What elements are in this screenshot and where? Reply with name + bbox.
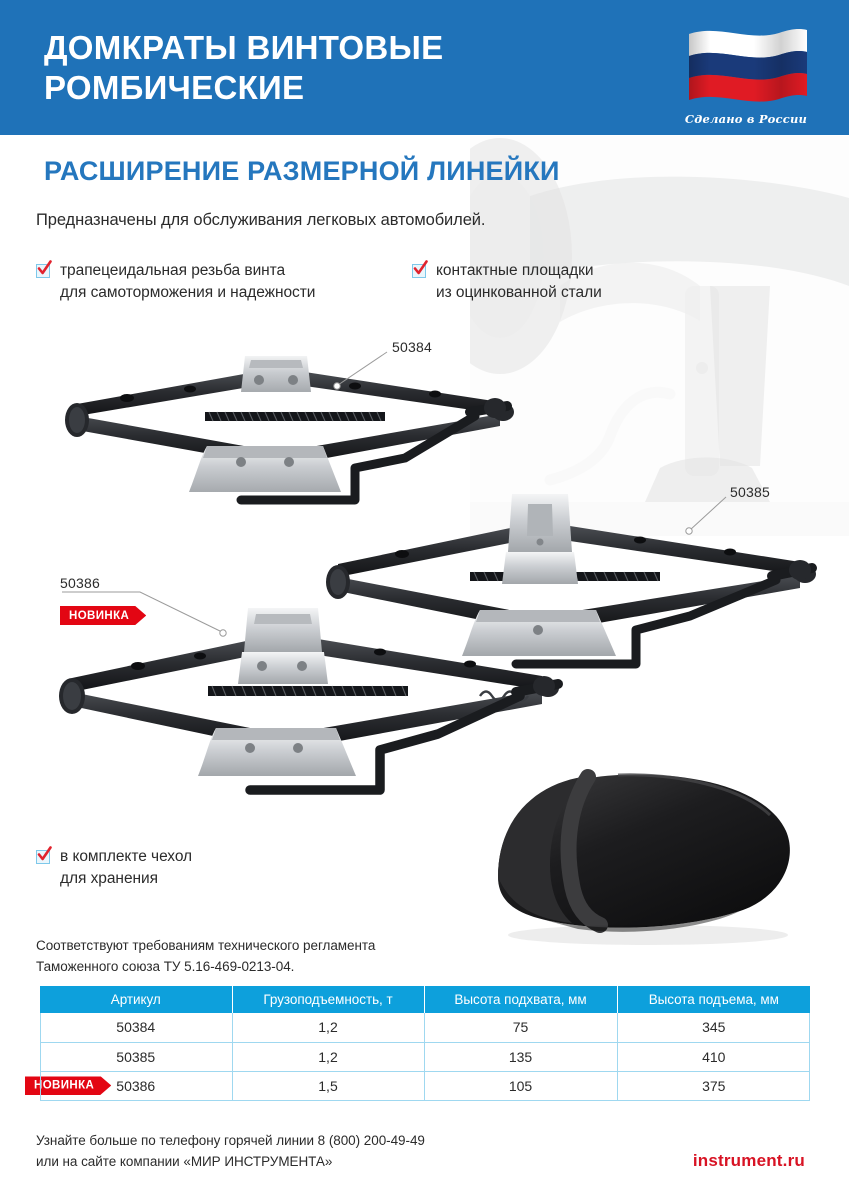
table-body: 50384 1,2 75 345 50385 1,2 135 410 НОВИН…: [40, 1013, 810, 1100]
specifications-table-wrap: Артикул Грузоподъемность, т Высота подхв…: [40, 986, 810, 1101]
cell-article: 50385: [40, 1042, 232, 1071]
table-left-border: [40, 1013, 41, 1100]
footer-contact-text: Узнайте больше по телефону горячей линии…: [36, 1131, 425, 1173]
column-header-pickup-height: Высота подхвата, мм: [424, 986, 617, 1013]
callout-label-50385: 50385: [730, 484, 770, 500]
column-header-article: Артикул: [40, 986, 232, 1013]
section-subtitle: РАСШИРЕНИЕ РАЗМЕРНОЙ ЛИНЕЙКИ: [44, 156, 560, 187]
intro-text: Предназначены для обслуживания легковых …: [36, 211, 485, 230]
table-header-row: Артикул Грузоподъемность, т Высота подхв…: [40, 986, 810, 1013]
table-row: 50385 1,2 135 410: [40, 1042, 810, 1071]
callout-label-50386: 50386: [60, 575, 100, 591]
made-in-russia-badge: Сделано в России: [671, 22, 821, 128]
cell-article-value: 50386: [116, 1078, 155, 1094]
checkmark-icon: [36, 263, 52, 279]
table-row: НОВИНКА 50386 1,5 105 375: [40, 1071, 810, 1100]
cell-lift-height: 375: [617, 1071, 810, 1100]
cell-capacity: 1,2: [232, 1013, 424, 1042]
specifications-table: Артикул Грузоподъемность, т Высота подхв…: [40, 986, 810, 1101]
feature-label: контактные площадки из оцинкованной стал…: [436, 260, 602, 304]
cell-capacity: 1,5: [232, 1071, 424, 1100]
new-badge-callout: НОВИНКА: [60, 606, 146, 625]
compliance-note: Соответствуют требованиям технического р…: [36, 936, 375, 977]
cell-lift-height: 345: [617, 1013, 810, 1042]
product-photo-group: [0, 300, 849, 960]
table-row: 50384 1,2 75 345: [40, 1013, 810, 1042]
feature-label: трапецеидальная резьба винта для самотор…: [60, 260, 315, 304]
product-photo-storage-case: [468, 765, 818, 950]
callout-label-50384: 50384: [392, 339, 432, 355]
cell-capacity: 1,2: [232, 1042, 424, 1071]
page-title: ДОМКРАТЫ ВИНТОВЫЕ РОМБИЧЕСКИЕ: [44, 28, 644, 109]
cell-pickup-height: 105: [424, 1071, 617, 1100]
product-datasheet-page: ДОМКРАТЫ ВИНТОВЫЕ РОМБИЧЕСКИЕ Сделан: [0, 0, 849, 1200]
new-badge-table-row: НОВИНКА: [25, 1076, 111, 1095]
cell-lift-height: 410: [617, 1042, 810, 1071]
feature-item-thread: трапецеидальная резьба винта для самотор…: [36, 260, 315, 304]
cell-article: 50384: [40, 1013, 232, 1042]
cell-pickup-height: 135: [424, 1042, 617, 1071]
table-right-border: [809, 1013, 810, 1100]
column-header-capacity: Грузоподъемность, т: [232, 986, 424, 1013]
table-head: Артикул Грузоподъемность, т Высота подхв…: [40, 986, 810, 1013]
product-photo-jack-50384: [55, 350, 525, 510]
column-header-lift-height: Высота подъема, мм: [617, 986, 810, 1013]
checkmark-icon: [412, 263, 428, 279]
cell-article: НОВИНКА 50386: [40, 1071, 232, 1100]
flag-caption: Сделано в России: [671, 112, 821, 126]
feature-item-pads: контактные площадки из оцинкованной стал…: [412, 260, 602, 304]
footer-website-link[interactable]: instrument.ru: [693, 1151, 805, 1171]
cell-pickup-height: 75: [424, 1013, 617, 1042]
